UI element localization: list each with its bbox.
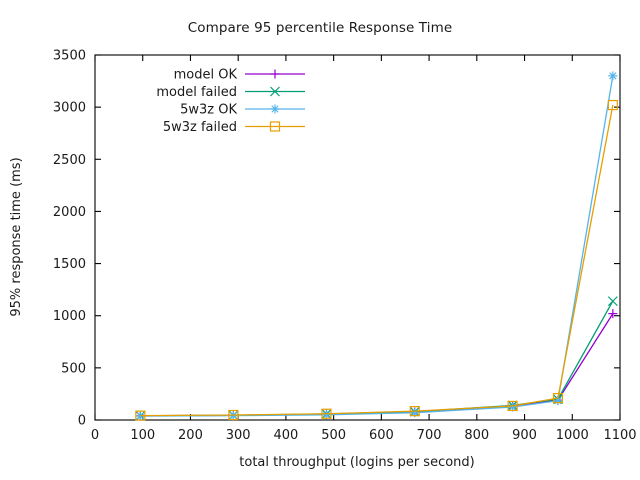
x-tick-label: 500 [321, 428, 346, 443]
y-tick-label: 1000 [53, 309, 86, 324]
y-tick-label: 2500 [53, 153, 86, 168]
series-0-point-6 [608, 309, 617, 318]
y-tick-label: 0 [78, 414, 86, 429]
y-tick-label: 500 [61, 361, 86, 376]
x-tick-label: 100 [130, 428, 155, 443]
x-tick-label: 0 [91, 428, 99, 443]
plot-area: 010020030040050060070080090010001100 050… [0, 0, 640, 480]
x-tick-label: 300 [226, 428, 251, 443]
x-tick-label: 200 [178, 428, 203, 443]
legend-marker-2 [271, 105, 280, 114]
x-tick-label: 400 [273, 428, 298, 443]
x-tick-label: 900 [512, 428, 537, 443]
x-axis-ticks: 010020030040050060070080090010001100 [91, 55, 637, 443]
x-tick-label: 700 [417, 428, 442, 443]
x-tick-label: 800 [464, 428, 489, 443]
chart-legend: model OKmodel failed5w3z OK5w3z failed [156, 68, 305, 136]
legend-marker-0 [271, 70, 280, 79]
x-tick-label: 600 [369, 428, 394, 443]
series-line-3 [140, 105, 613, 416]
x-tick-label: 1000 [556, 428, 589, 443]
plot-frame [95, 55, 620, 420]
legend-label-2: 5w3z OK [180, 103, 237, 118]
y-tick-label: 1500 [53, 257, 86, 272]
series-line-1 [140, 301, 613, 416]
y-axis-ticks: 0500100015002000250030003500 [53, 49, 620, 429]
plot-border [95, 55, 620, 420]
y-axis-title: 95% response time (ms) [9, 157, 24, 316]
chart-container: Compare 95 percentile Response Time 0100… [0, 0, 640, 480]
x-tick-label: 1100 [603, 428, 636, 443]
series-2-point-6 [608, 71, 617, 80]
series-1-point-6 [608, 297, 617, 306]
y-tick-label: 3500 [53, 49, 86, 64]
x-axis-title: total throughput (logins per second) [239, 455, 474, 470]
legend-label-1: model failed [156, 85, 237, 100]
legend-label-0: model OK [174, 68, 238, 83]
y-tick-label: 3000 [53, 101, 86, 116]
y-tick-label: 2000 [53, 205, 86, 220]
legend-label-3: 5w3z failed [163, 120, 237, 135]
